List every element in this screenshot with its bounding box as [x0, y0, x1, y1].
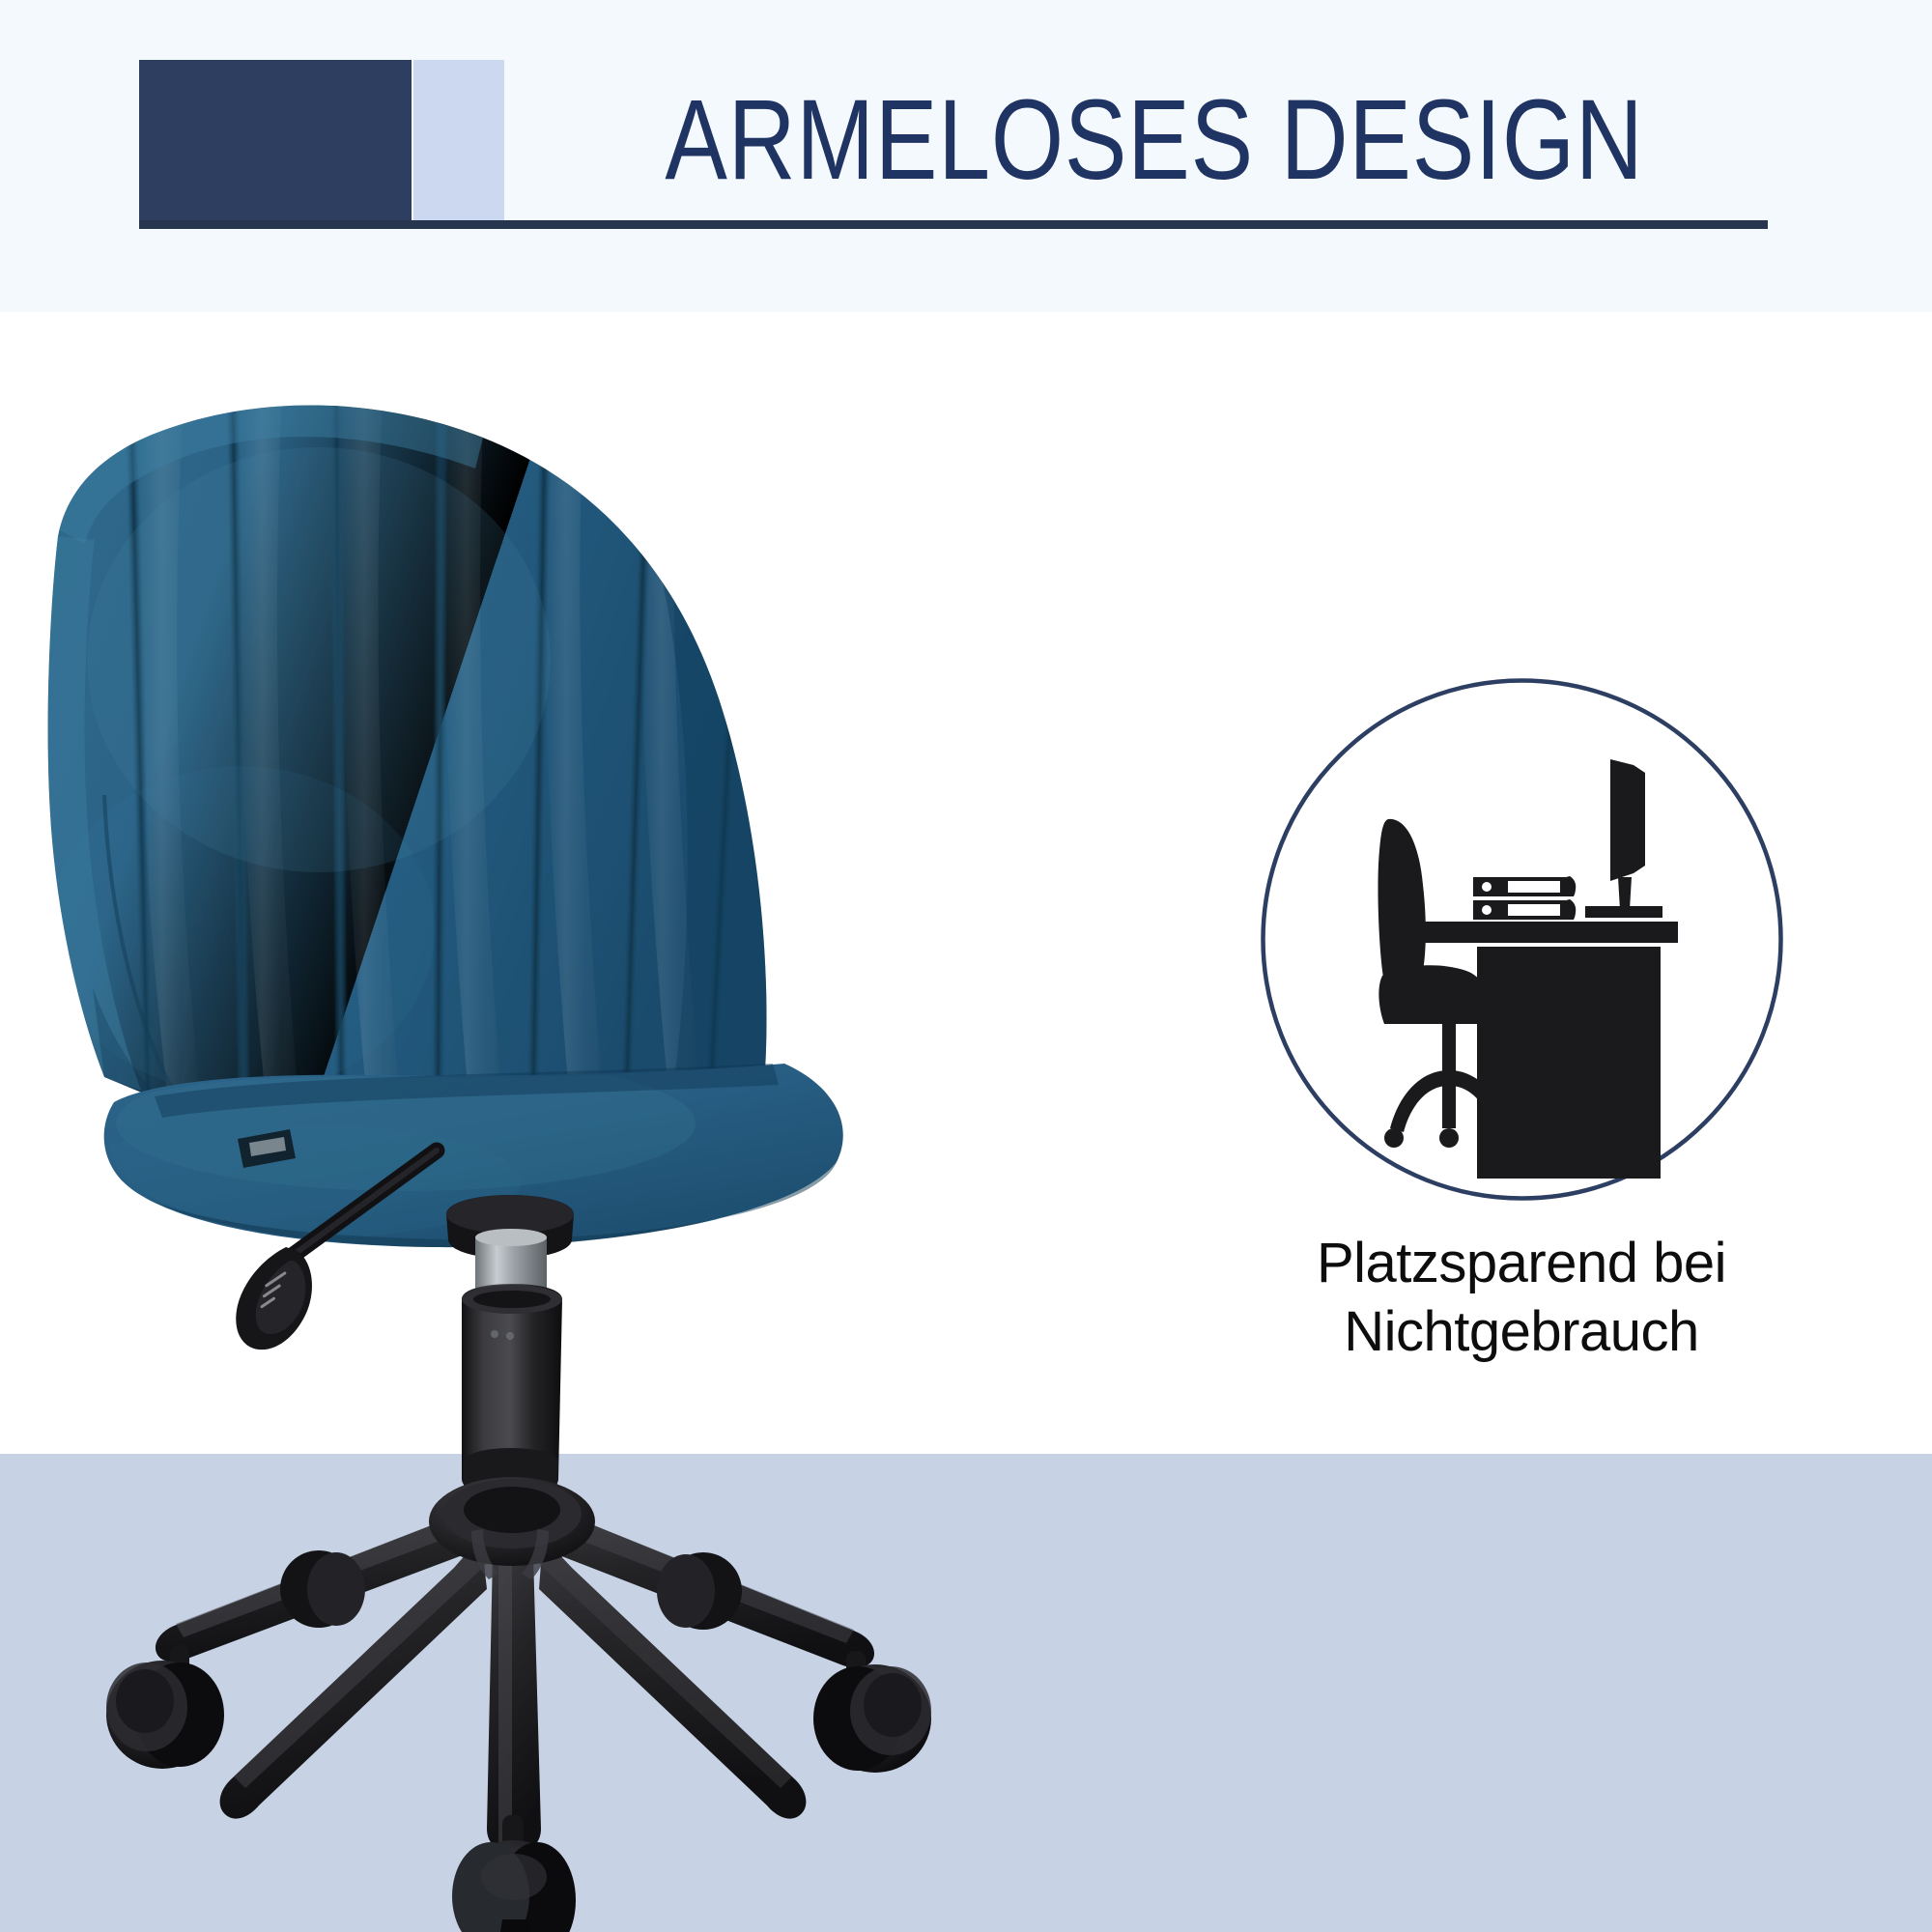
product-photo	[0, 312, 1140, 1932]
gas-lift-column	[446, 1195, 574, 1520]
header-swatch-dark	[139, 60, 412, 222]
chair-base-star	[156, 1477, 874, 1854]
page-title: ARMELOSES DESIGN	[651, 58, 1657, 222]
callout-caption: Platzsparend bei Nichtgebrauch	[1246, 1230, 1797, 1367]
callout-circle	[1259, 676, 1785, 1203]
header-swatch-light	[413, 60, 504, 222]
callout-caption-line1: Platzsparend bei	[1246, 1230, 1797, 1298]
feature-callout: Platzsparend bei Nichtgebrauch	[1246, 676, 1797, 1367]
chair-backrest	[48, 380, 771, 1185]
header-band: ARMELOSES DESIGN	[0, 0, 1932, 312]
product-feature-image: ARMELOSES DESIGN	[0, 0, 1932, 1932]
callout-caption-line2: Nichtgebrauch	[1246, 1298, 1797, 1367]
